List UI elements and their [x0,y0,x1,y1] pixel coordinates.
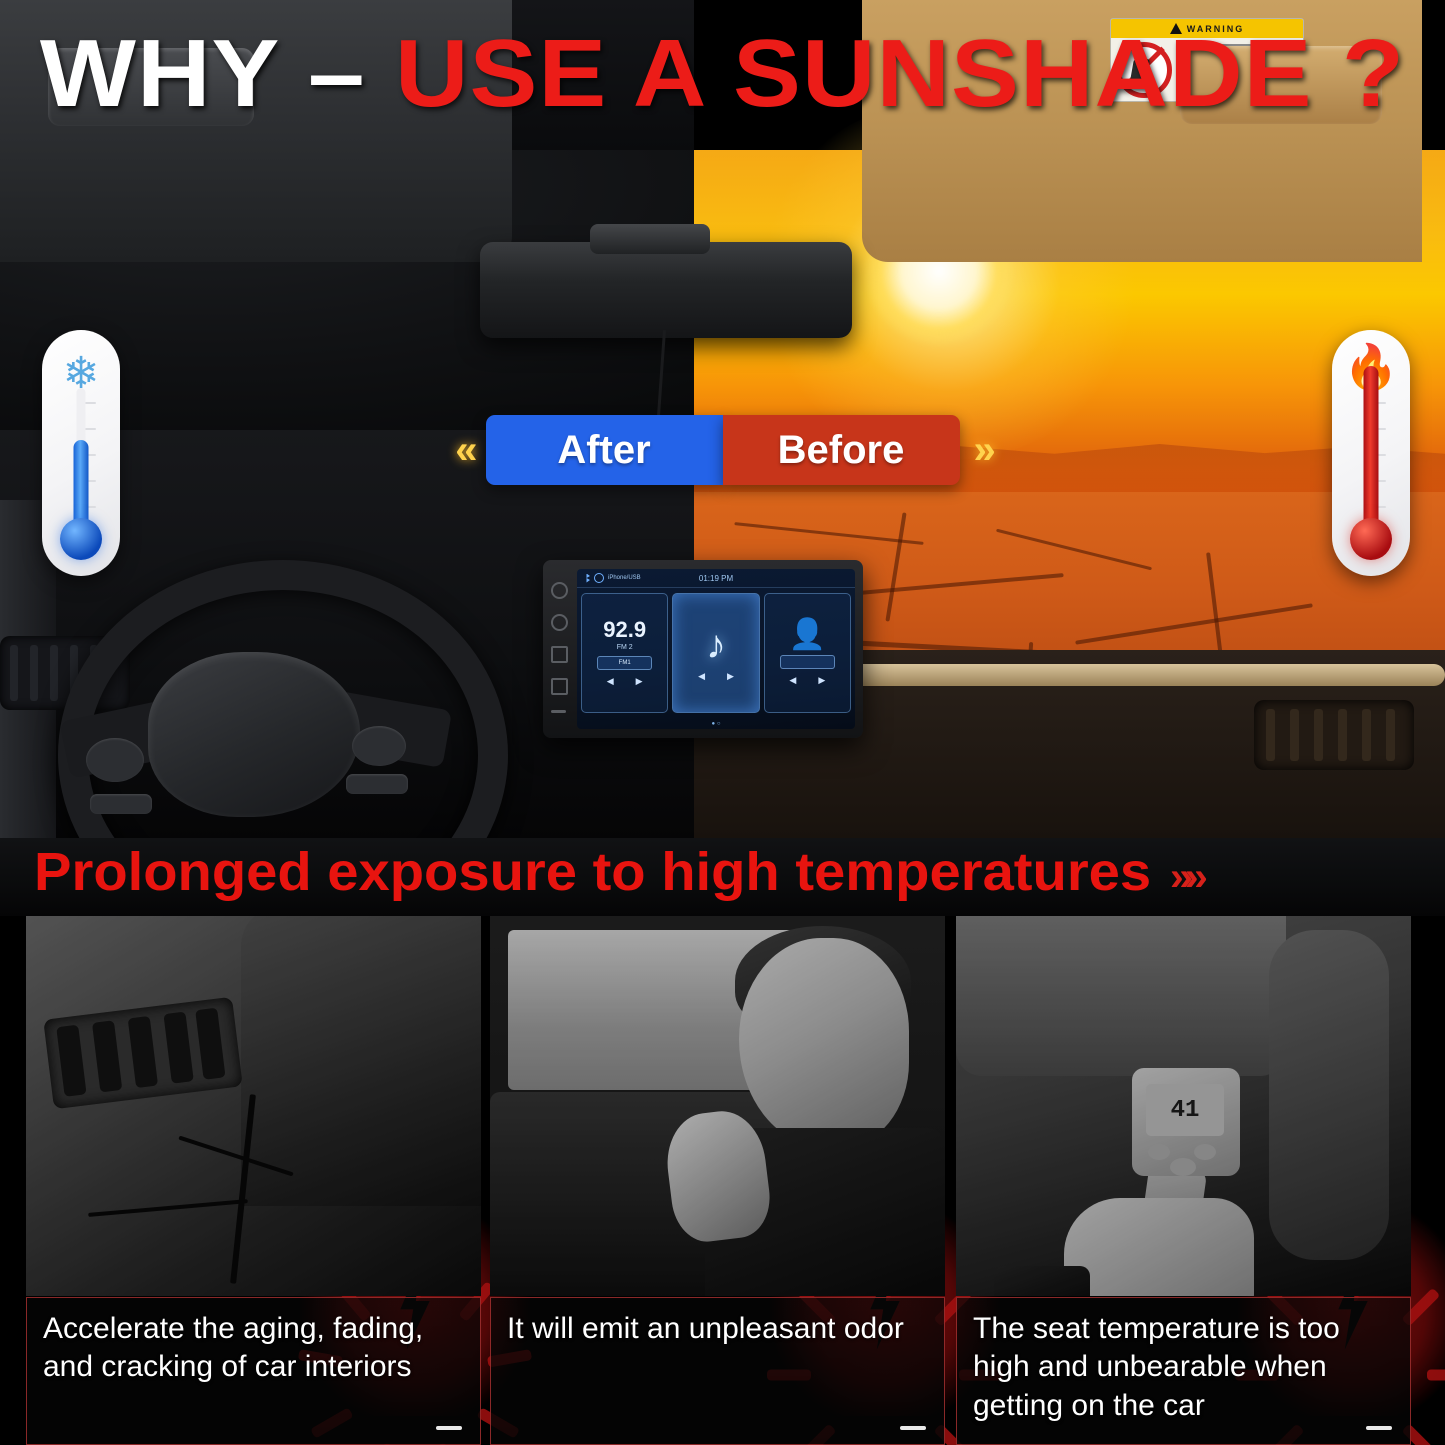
head-unit-status-bar: iPhone/USB 01:19 PM [577,569,855,588]
radio-next-icon[interactable]: ▶ [636,676,643,687]
bluetooth-icon [583,574,590,583]
panel-caption-1-text: Accelerate the aging, fading, and cracki… [43,1312,423,1383]
steering-wheel [28,560,458,838]
panel-caption-3-text: The seat temperature is too high and unb… [973,1312,1340,1422]
contact-nav-controls[interactable]: ◀ ▶ [789,675,825,686]
consequence-panels: Accelerate the aging, fading, and cracki… [0,916,1445,1445]
head-unit-clock: 01:19 PM [699,574,733,583]
dashboard-vent [43,997,243,1109]
media-transport-controls[interactable]: ◀ ▶ [698,671,734,682]
hot-thermometer-mercury [1364,366,1379,532]
headline-text: Prolonged exposure to high temperatures [34,842,1151,902]
usb-icon [594,573,604,583]
media-widget[interactable]: ♪ ◀ ▶ [672,593,759,713]
radio-preset-pill[interactable]: FM1 [597,656,652,670]
radio-widget[interactable]: 92.9 FM 2 FM1 ◀ ▶ [581,593,668,713]
media-prev-icon[interactable]: ◀ [698,671,705,682]
head-unit-widgets: 92.9 FM 2 FM1 ◀ ▶ ♪ ◀ ▶ [577,588,855,718]
phone-widget[interactable]: 👤 ◀ ▶ [764,593,851,713]
panel-photo-cracked-dashboard [26,916,481,1296]
panel-aging-interiors: Accelerate the aging, fading, and cracki… [26,916,481,1445]
home-button-icon[interactable] [551,614,568,631]
media-next-icon[interactable]: ▶ [727,671,734,682]
music-note-icon: ♪ [706,625,726,665]
infrared-thermometer-gun: 41 [1132,1068,1240,1176]
panel-photo-man-waving [490,916,945,1296]
hero-comparison-scene: WARNING [0,0,1445,838]
before-after-badges: « After Before » [0,414,1445,486]
cold-thermometer: ❄ [42,330,120,576]
panel-caption-1: Accelerate the aging, fading, and cracki… [26,1297,481,1445]
thermometer-button-a [1148,1144,1170,1160]
panel-unpleasant-odor: It will emit an unpleasant odor [490,916,945,1445]
panel-hot-seat: 41 The seat temperature is too high and … [956,916,1411,1445]
steering-button-left-lower [90,794,152,814]
radio-frequency: 92.9 [603,619,646,641]
thermometer-lcd-reading: 41 [1146,1084,1224,1136]
steering-button-left-pad [86,738,144,782]
radio-prev-icon[interactable]: ◀ [607,676,614,687]
contact-pill[interactable] [780,655,835,669]
radio-band: FM 2 [617,644,633,651]
panel-caption-3: The seat temperature is too high and unb… [956,1297,1411,1445]
power-button-icon[interactable] [551,582,568,599]
person-icon: 👤 [789,620,826,650]
person-head [739,938,909,1148]
radio-seek-controls[interactable]: ◀ ▶ [607,676,643,687]
hot-thermometer: 🔥 [1332,330,1410,576]
steering-button-right-pad [352,726,406,766]
rearview-mirror [480,242,852,338]
contact-prev-icon[interactable]: ◀ [789,675,796,686]
head-unit-side-buttons[interactable] [551,582,568,713]
wrist-watch [994,1266,1090,1296]
before-dashboard-trim [844,664,1445,686]
panel-photo-ir-thermometer: 41 [956,916,1411,1296]
seat-backrest [956,916,1286,1076]
cold-thermometer-bulb [60,518,102,560]
contact-next-icon[interactable]: ▶ [818,675,825,686]
caption-underscore-mark [436,1426,462,1430]
page-title-white: WHY – [40,20,395,127]
seat-shape [241,916,481,1206]
page-title-red: USE A SUNSHADE ? [395,20,1405,127]
sunshade-infographic-poster: WARNING [0,0,1445,1445]
left-chevron-icon: « [441,430,485,470]
caption-underscore-mark [900,1426,926,1430]
panel-caption-2: It will emit an unpleasant odor [490,1297,945,1445]
volume-button-icon[interactable] [551,646,568,663]
headline-band: Prolonged exposure to high temperatures»… [0,838,1445,916]
before-badge: Before [723,415,960,485]
after-badge: After [486,415,723,485]
hand-holding-thermometer [1064,1198,1254,1296]
head-unit-screen[interactable]: iPhone/USB 01:19 PM 92.9 FM 2 FM1 ◀ ▶ [577,569,855,729]
before-air-vent [1254,700,1414,770]
head-unit-source-label: iPhone/USB [608,575,641,581]
headline-chevrons-icon: »» [1170,855,1200,899]
headline-text-wrap: Prolonged exposure to high temperatures»… [34,841,1200,903]
right-chevron-icon: » [960,430,1004,470]
page-indicator-dots: ● ○ [577,721,855,727]
thermometer-button-c [1170,1158,1196,1176]
steering-button-right-lower [346,774,408,794]
head-unit-source: iPhone/USB [583,573,641,583]
eject-button-icon[interactable] [551,710,566,713]
caption-underscore-mark [1366,1426,1392,1430]
page-title: WHY – USE A SUNSHADE ? [0,26,1445,122]
hot-thermometer-bulb [1350,518,1392,560]
menu-button-icon[interactable] [551,678,568,695]
seat-bolster [1269,930,1389,1260]
panel-caption-2-text: It will emit an unpleasant odor [507,1312,904,1345]
thermometer-button-b [1194,1144,1216,1160]
car-infotainment-head-unit[interactable]: iPhone/USB 01:19 PM 92.9 FM 2 FM1 ◀ ▶ [543,560,863,738]
